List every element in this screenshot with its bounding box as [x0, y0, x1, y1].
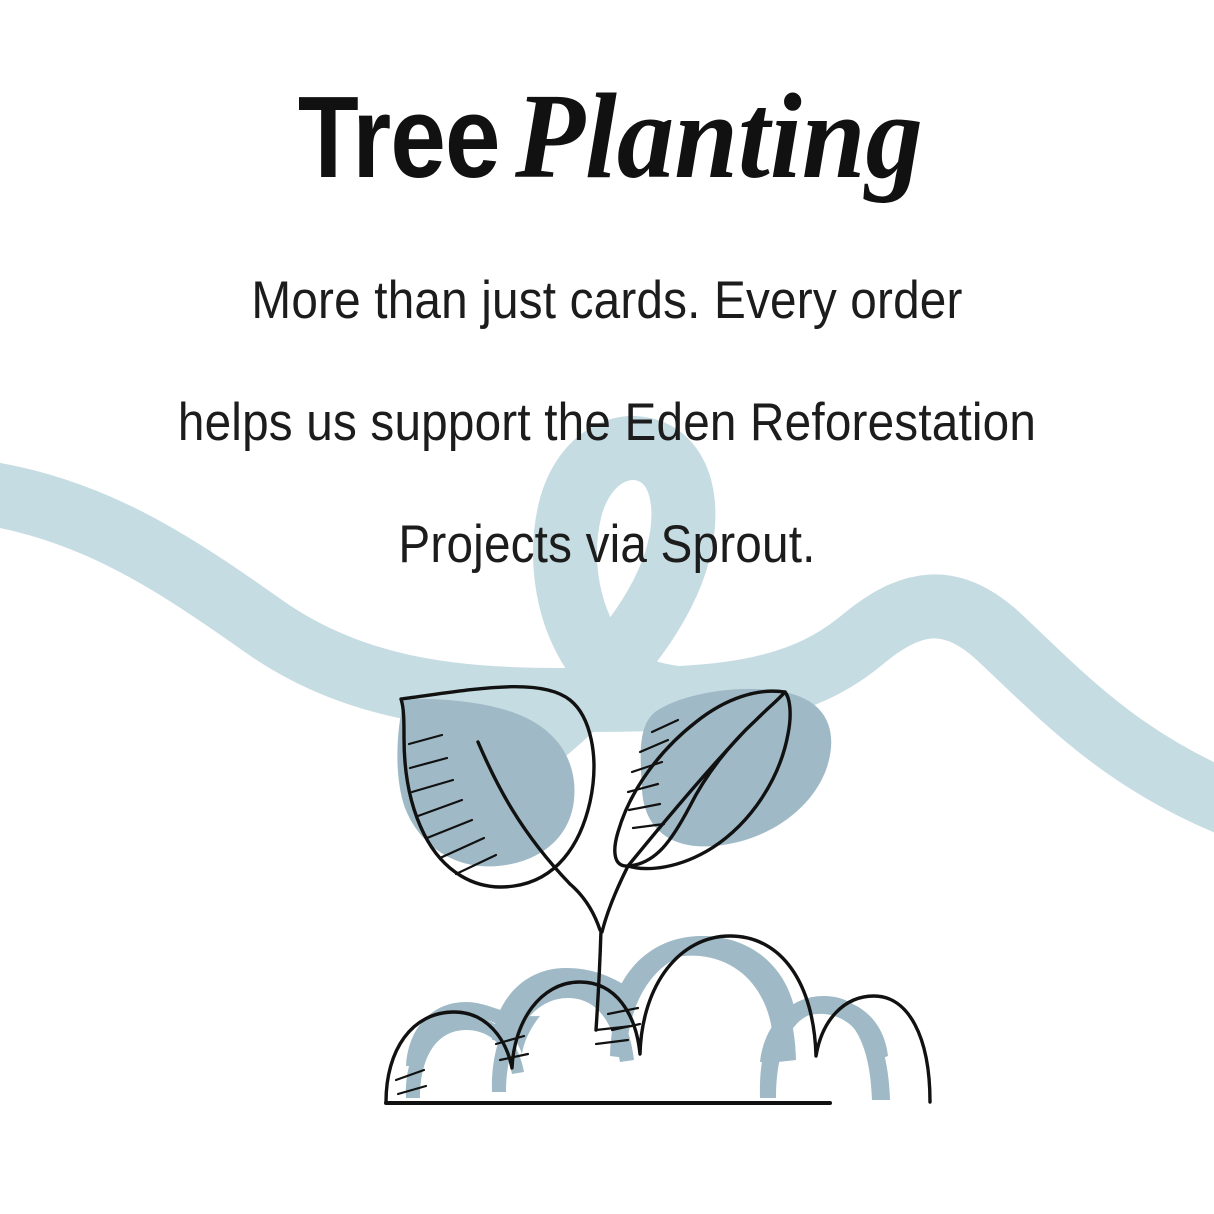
tree-planting-graphic: TreePlanting More than just cards. Every…: [0, 0, 1214, 1214]
soil-mound-fill: [406, 936, 890, 1100]
left-leaf-fill: [397, 699, 574, 866]
soil-crest-shading-3: [610, 936, 796, 1062]
stem-right-branch: [602, 866, 628, 932]
left-leaf-midrib: [478, 742, 570, 884]
soil-crest-shading: [406, 1016, 524, 1098]
stem-left-branch: [570, 884, 600, 930]
soil-mound-outline: [386, 936, 930, 1102]
soil-hatch-marks: [396, 1008, 640, 1094]
right-leaf-outline: [615, 691, 785, 866]
soil-band: [406, 936, 888, 1068]
body-copy-line-1: More than just cards. Every order: [61, 240, 1154, 362]
right-leaf-veins: [628, 720, 678, 828]
body-copy: More than just cards. Every order helps …: [0, 198, 1214, 606]
body-copy-line-3: Projects via Sprout.: [61, 484, 1154, 606]
title-word-accent: Planting: [515, 76, 923, 198]
right-leaf-midrib: [628, 736, 740, 866]
body-copy-line-2: helps us support the Eden Reforestation: [61, 362, 1154, 484]
leaf-fills: [397, 689, 831, 866]
left-leaf-veins: [409, 735, 496, 874]
left-leaf-outline: [401, 687, 594, 887]
soil-crest-shading-2: [492, 982, 634, 1092]
text-block: TreePlanting More than just cards. Every…: [0, 0, 1214, 606]
soil-crest-shading-4: [760, 996, 890, 1100]
right-leaf-outline-tip: [628, 692, 790, 869]
page-title: TreePlanting: [0, 0, 1214, 198]
stem-main: [596, 930, 601, 1030]
title-word-primary: Tree: [298, 79, 500, 195]
right-leaf-fill: [641, 689, 832, 847]
